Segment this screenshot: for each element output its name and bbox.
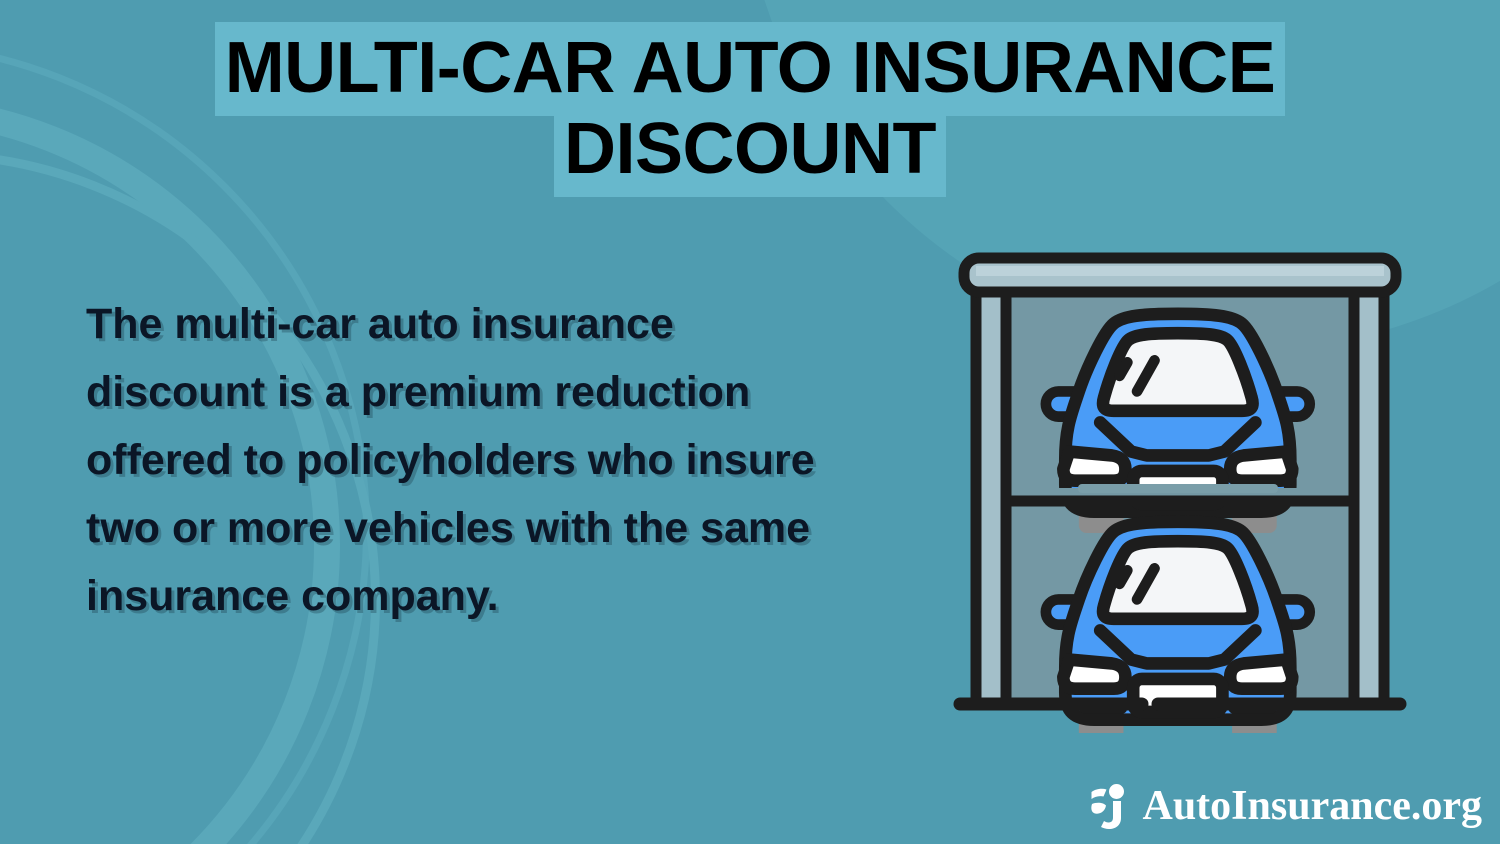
autoinsurance-ai-monogram-icon <box>1088 782 1128 830</box>
garage-roof-beam <box>964 258 1396 292</box>
title-line-2: DISCOUNT <box>554 103 946 197</box>
page-title: MULTI-CAR AUTO INSURANCE DISCOUNT <box>0 28 1500 191</box>
infographic-canvas: MULTI-CAR AUTO INSURANCE DISCOUNT The mu… <box>0 0 1500 844</box>
body-paragraph: The multi-car auto insurance discount is… <box>86 291 846 631</box>
title-line-1: MULTI-CAR AUTO INSURANCE <box>215 22 1286 116</box>
site-logo[interactable]: AutoInsurance.org <box>1088 782 1482 830</box>
logo-wordmark: AutoInsurance.org <box>1142 785 1482 827</box>
parking-garage-illustration <box>950 248 1410 733</box>
